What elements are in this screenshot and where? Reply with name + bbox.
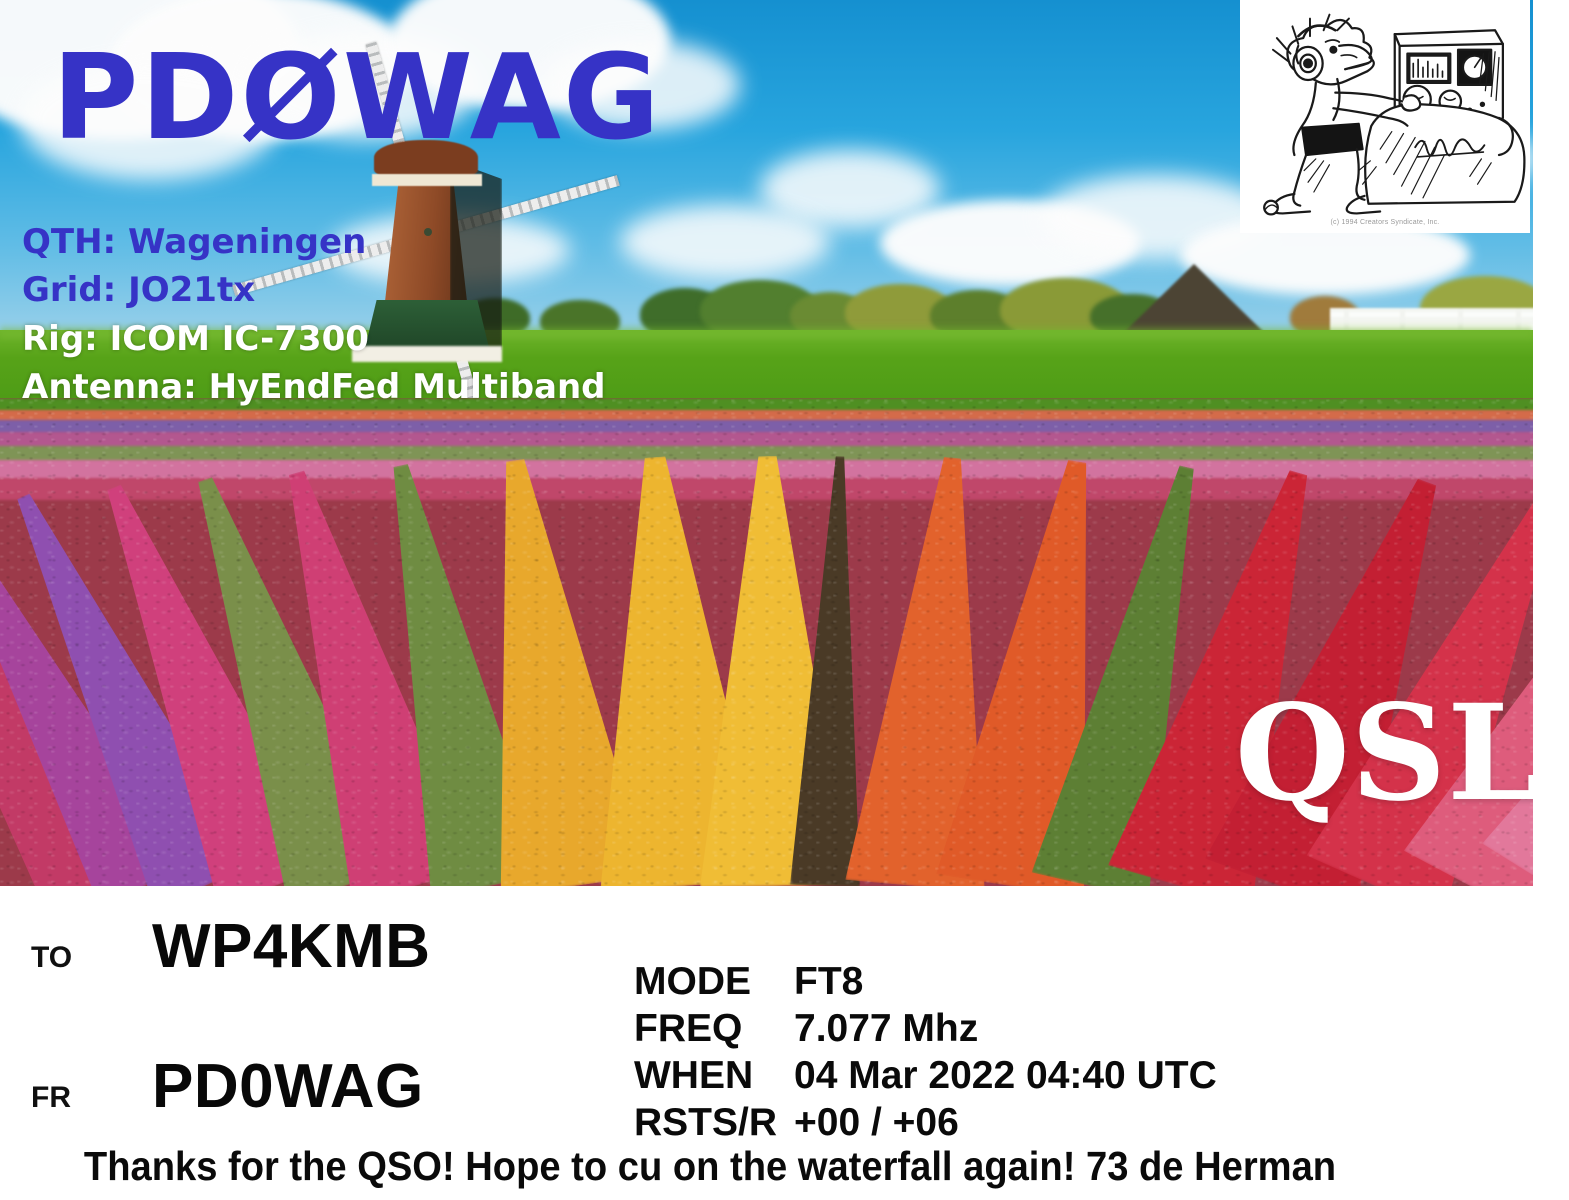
qso-detail-row: WHEN04 Mar 2022 04:40 UTC — [634, 1054, 1217, 1101]
station-info: QTH: Wageningen Grid: JO21tx Rig: ICOM I… — [22, 218, 606, 411]
caveman-radio-operator-cartoon: (c) 1994 Creators Syndicate, Inc. — [1240, 0, 1530, 233]
cloud — [620, 205, 830, 279]
qso-details-table: MODEFT8FREQ7.077 MhzWHEN04 Mar 2022 04:4… — [634, 960, 1217, 1148]
fr-callsign: PD0WAG — [152, 1051, 424, 1122]
cartoon-credit: (c) 1994 Creators Syndicate, Inc. — [1243, 219, 1527, 226]
fr-label: FR — [31, 1081, 71, 1115]
qso-detail-key: FREQ — [634, 1007, 794, 1054]
qso-detail-key: MODE — [634, 960, 794, 1007]
qso-detail-row: FREQ7.077 Mhz — [634, 1007, 1217, 1054]
qso-detail-key: WHEN — [634, 1054, 794, 1101]
qsl-card: PDØWAG QTH: Wageningen Grid: JO21tx Rig:… — [0, 0, 1569, 1200]
qso-detail-key: RSTS/R — [634, 1101, 794, 1148]
station-qth: QTH: Wageningen — [22, 218, 606, 266]
qso-detail-value: 04 Mar 2022 04:40 UTC — [794, 1054, 1217, 1101]
to-label: TO — [31, 941, 72, 975]
qso-detail-value: 7.077 Mhz — [794, 1007, 1217, 1054]
to-callsign: WP4KMB — [152, 911, 431, 982]
station-antenna: Antenna: HyEndFed Multiband — [22, 363, 606, 411]
qso-detail-row: MODEFT8 — [634, 960, 1217, 1007]
station-grid: Grid: JO21tx — [22, 266, 606, 314]
qso-detail-value: +00 / +06 — [794, 1101, 1217, 1148]
qso-detail-row: RSTS/R+00 / +06 — [634, 1101, 1217, 1148]
qso-message: Thanks for the QSO! Hope to cu on the wa… — [50, 1143, 1371, 1190]
windmill-gallery — [372, 174, 482, 186]
station-rig: Rig: ICOM IC-7300 — [22, 315, 606, 363]
qso-detail-value: FT8 — [794, 960, 1217, 1007]
page-title-callsign: PDØWAG — [52, 38, 662, 156]
qsl-watermark: QSL — [1235, 688, 1536, 820]
